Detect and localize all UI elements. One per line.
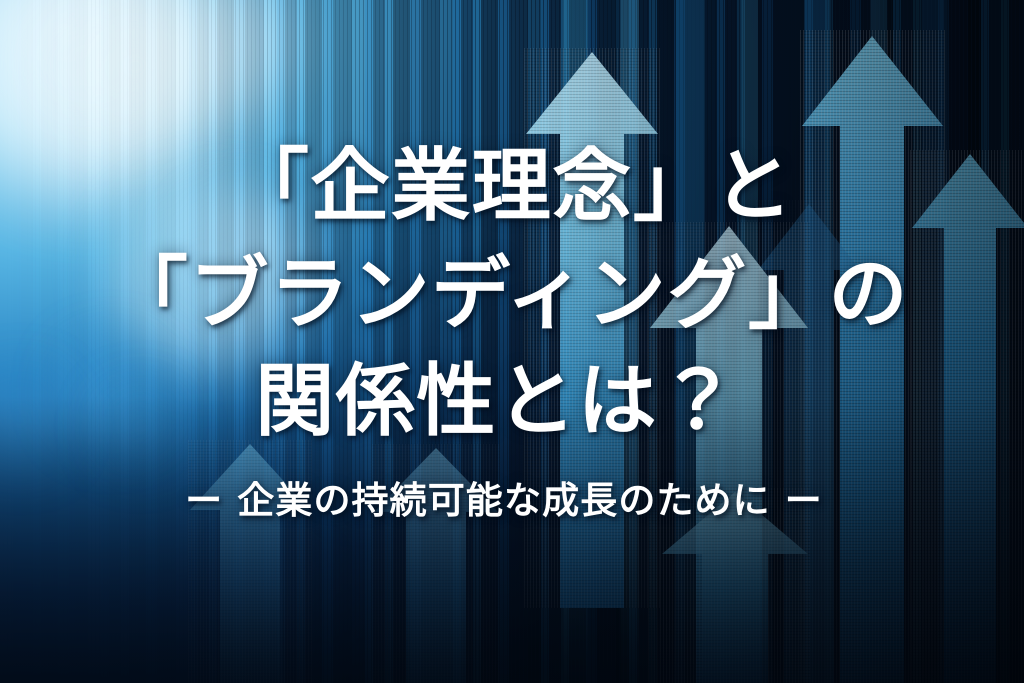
title-banner: 「企業理念」と 「ブランディング」の 関係性とは？ ー 企業の持続可能な成長のた… <box>0 0 1024 683</box>
vignette-overlay <box>0 0 1024 683</box>
